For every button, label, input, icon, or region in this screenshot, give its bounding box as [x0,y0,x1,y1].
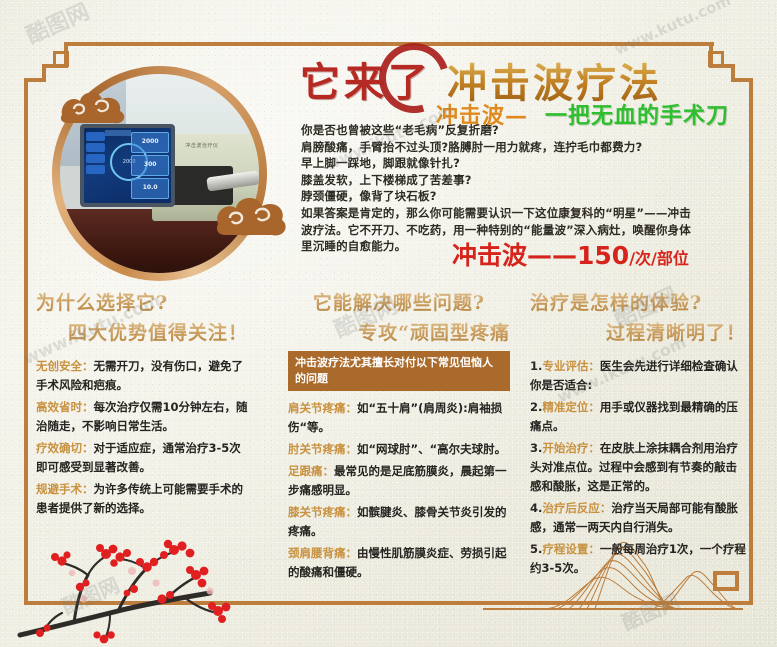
item-keyword: 专业评估： [542,359,600,373]
price-line: 冲击波——150/次/部位 [452,236,689,272]
list-item: 5.疗程设置：一般每周治疗1次，一个疗程约3-5次。 [530,540,746,578]
item-keyword: 治疗后反应： [542,501,611,515]
item-keyword: 无创安全： [36,359,94,373]
item-keyword: 颈肩腰背痛： [288,546,357,560]
column-treatment-experience: 治疗是怎样的体验? 过程清晰明了！ 1.专业评估：医生会先进行详细检查确认你是否… [530,288,746,581]
frame-left-line [24,78,28,571]
column-2-heading-line2: 专攻“顽固型疼痛 [288,318,510,345]
item-number: 4. [530,501,542,515]
column-what-it-solves: 它能解决哪些问题? 专攻“顽固型疼痛 冲击波疗法尤其擅长对付以下常见但恼人的问题… [288,288,510,585]
intro-line: 脖颈僵硬，像背了块石板? [301,188,761,205]
list-item: 疗效确切：对于适应症，通常治疗3-5次即可感受到显著改善。 [36,439,248,477]
device-monitor: 2000 2000 300 10.0 [80,124,176,208]
intro-line: 肩膀酸痛，手臂抬不过头顶?胳膊肘一用力就疼，连拧毛巾都费力? [301,139,761,156]
chinese-cloud-ornament-icon [58,85,128,127]
device-brand-label: 冲击波治疗仪 [185,142,218,149]
hero-title-red: 它来了 [300,50,432,108]
device-screen-value-3: 10.0 [132,184,169,191]
list-item: 足跟痛：最常见的是足底筋膜炎，晨起第一步痛感明显。 [288,462,510,500]
item-keyword: 膝关节疼痛： [288,505,357,519]
corner-ornament-top-right [693,42,753,102]
device-screen-value-2: 300 [132,161,169,168]
item-keyword: 规避手术： [36,482,94,496]
item-keyword: 疗程设置： [542,542,600,556]
list-item: 1.专业评估：医生会先进行详细检查确认你是否适合: [530,357,746,395]
item-keyword: 高效省时： [36,400,94,414]
price-unit: /次/部位 [629,249,689,268]
item-number: 2. [530,400,542,414]
intro-line: 如果答案是肯定的，那么你可能需要认识一下这位康复科的“明星”——冲击 [301,205,761,222]
list-item: 颈肩腰背痛：由慢性肌筋膜炎症、劳损引起的酸痛和僵硬。 [288,544,510,582]
column-3-heading-line2: 过程清晰明了！ [530,318,746,345]
device-screen-value-1: 2000 [132,138,169,145]
item-number: 1. [530,359,542,373]
list-item: 3.开始治疗：在皮肤上涂抹耦合剂用治疗头对准点位。过程中会感到有节奏的敲击感和酸… [530,439,746,496]
item-keyword: 开始治疗： [542,441,600,455]
column-2-heading-line1: 它能解决哪些问题? [288,288,510,315]
list-item: 无创安全：无需开刀，没有伤口，避免了手术风险和疤痕。 [36,357,248,395]
plum-blossom-branch-icon [14,527,244,647]
list-item: 规避手术：为许多传统上可能需要手术的患者提供了新的选择。 [36,480,248,518]
intro-line: 你是否也曾被这些“老毛病”反复折磨? [301,122,761,139]
list-item: 膝关节疼痛：如髌腱炎、膝骨关节炎引发的疼痛。 [288,503,510,541]
item-keyword: 足跟痛： [288,464,334,478]
item-keyword: 精准定位： [542,400,600,414]
column-1-heading-line2: 四大优势值得关注！ [36,318,248,345]
list-item: 2.精准定位：用手或仪器找到最精确的压痛点。 [530,398,746,436]
list-item: 高效省时：每次治疗仅需10分钟左右，随治随走，不影响日常生活。 [36,398,248,436]
device-screen: 2000 2000 300 10.0 [84,128,172,204]
intro-paragraph: 你是否也曾被这些“老毛病”反复折磨? 肩膀酸痛，手臂抬不过头顶?胳膊肘一用力就疼… [301,122,761,255]
item-text: 如“网球肘”、“高尔夫球肘。 [357,442,506,456]
column-3-heading-line1: 治疗是怎样的体验? [530,288,746,315]
list-item: 肘关节疼痛：如“网球肘”、“高尔夫球肘。 [288,440,510,459]
frame-top-line [66,42,714,46]
intro-line: 膝盖发软，上下楼梯成了苦差事? [301,172,761,189]
item-number: 5. [530,542,542,556]
item-number: 3. [530,441,542,455]
column-1-heading-line1: 为什么选择它? [36,288,248,315]
item-keyword: 肘关节疼痛： [288,442,357,456]
item-keyword: 疗效确切： [36,441,94,455]
poster-canvas: 冲击波治疗仪 2000 2000 300 10.0 [0,0,777,647]
item-keyword: 肩关节疼痛： [288,401,357,415]
column-why-choose: 为什么选择它? 四大优势值得关注！ 无创安全：无需开刀，没有伤口，避免了手术风险… [36,288,248,521]
chinese-cloud-ornament-icon-2 [212,190,292,240]
price-main: 冲击波——150 [452,241,629,270]
highlight-band: 冲击波疗法尤其擅长对付以下常见但恼人的问题 [288,351,510,391]
intro-line: 早上脚一踩地，脚跟就像针扎? [301,155,761,172]
list-item: 4.治疗后反应：治疗当天局部可能有酸胀感，通常一两天内自行消失。 [530,499,746,537]
list-item: 肩关节疼痛：如“五十肩”(肩周炎):肩袖损伤“等。 [288,399,510,437]
